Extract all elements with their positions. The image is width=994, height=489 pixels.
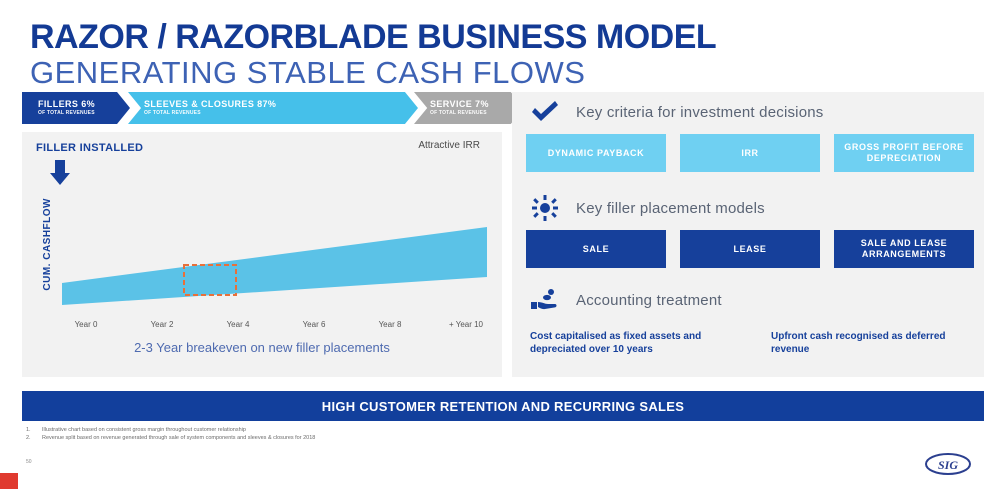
- chart-caption: 2-3 Year breakeven on new filler placeme…: [22, 340, 502, 355]
- placement-model-boxes: SALE LEASE SALE AND LEASE ARRANGEMENTS: [526, 230, 974, 268]
- filler-installed-label: FILLER INSTALLED: [36, 142, 143, 154]
- page-number: 50: [26, 459, 32, 465]
- red-accent-bar: [0, 473, 18, 489]
- cashflow-area-chart: [62, 187, 487, 317]
- chevron-service-sub: OF TOTAL REVENUES: [430, 110, 524, 117]
- model-box-sale[interactable]: SALE: [526, 230, 666, 268]
- section-key-criteria-heading: Key criteria for investment decisions: [576, 104, 824, 121]
- criteria-box-irr[interactable]: IRR: [680, 134, 820, 172]
- hand-coins-icon: [530, 288, 560, 312]
- x-tick-3: Year 6: [284, 320, 344, 329]
- investment-criteria-panel: Key criteria for investment decisions DY…: [512, 92, 984, 377]
- key-criteria-boxes: DYNAMIC PAYBACK IRR GROSS PROFIT BEFORE …: [526, 134, 974, 172]
- chevron-service-label: SERVICE 7%: [430, 99, 524, 110]
- chevron-sleeves-label: SLEEVES & CLOSURES 87%: [144, 99, 418, 110]
- criteria-box-gross-profit[interactable]: GROSS PROFIT BEFORE DEPRECIATION: [834, 134, 974, 172]
- attractive-irr-label: Attractive IRR: [418, 140, 480, 151]
- footnote-2: 2. Revenue split based on revenue genera…: [26, 434, 626, 442]
- sig-logo-text: SIG: [938, 458, 958, 472]
- chevron-sleeves-closures: SLEEVES & CLOSURES 87% OF TOTAL REVENUES: [128, 92, 418, 124]
- footnote-1-number: 1.: [26, 426, 36, 434]
- footnote-1: 1. Illustrative chart based on consisten…: [26, 426, 626, 434]
- accounting-notes: Cost capitalised as fixed assets and dep…: [530, 330, 970, 356]
- footnote-2-number: 2.: [26, 434, 36, 442]
- footer-banner: HIGH CUSTOMER RETENTION AND RECURRING SA…: [22, 391, 984, 421]
- down-arrow-icon: [49, 160, 71, 186]
- chevron-fillers-sub: OF TOTAL REVENUES: [38, 110, 130, 117]
- x-tick-1: Year 2: [132, 320, 192, 329]
- revenue-split-chevrons: FILLERS 6% OF TOTAL REVENUES SLEEVES & C…: [22, 92, 502, 124]
- sig-logo: SIG: [924, 451, 972, 477]
- chevron-fillers: FILLERS 6% OF TOTAL REVENUES: [22, 92, 130, 124]
- chevron-sleeves-sub: OF TOTAL REVENUES: [144, 110, 418, 117]
- gear-icon: [530, 195, 560, 221]
- chart-x-axis-labels: Year 0 Year 2 Year 4 Year 6 Year 8 + Yea…: [56, 320, 496, 329]
- chevron-fillers-label: FILLERS 6%: [38, 99, 130, 110]
- section-placement-models: Key filler placement models: [530, 195, 765, 221]
- model-box-sale-and-lease[interactable]: SALE AND LEASE ARRANGEMENTS: [834, 230, 974, 268]
- x-tick-4: Year 8: [360, 320, 420, 329]
- model-box-lease[interactable]: LEASE: [680, 230, 820, 268]
- section-placement-models-heading: Key filler placement models: [576, 200, 765, 217]
- x-tick-0: Year 0: [56, 320, 116, 329]
- cashflow-chart-panel: FILLER INSTALLED Attractive IRR CUM. CAS…: [22, 132, 502, 377]
- cashflow-band: [62, 227, 487, 305]
- check-icon: [530, 100, 560, 124]
- section-accounting-treatment: Accounting treatment: [530, 288, 722, 312]
- footnote-2-text: Revenue split based on revenue generated…: [42, 434, 315, 442]
- accounting-note-2: Upfront cash recognised as deferred reve…: [771, 330, 970, 356]
- x-tick-5: + Year 10: [436, 320, 496, 329]
- chevron-service: SERVICE 7% OF TOTAL REVENUES: [414, 92, 524, 124]
- slide-root: RAZOR / RAZORBLADE BUSINESS MODEL GENERA…: [0, 0, 994, 489]
- page-subtitle: GENERATING STABLE CASH FLOWS: [30, 55, 585, 91]
- x-tick-2: Year 4: [208, 320, 268, 329]
- section-accounting-heading: Accounting treatment: [576, 292, 722, 309]
- footnotes: 1. Illustrative chart based on consisten…: [26, 426, 626, 442]
- page-title: RAZOR / RAZORBLADE BUSINESS MODEL: [30, 18, 716, 57]
- footnote-1-text: Illustrative chart based on consistent g…: [42, 426, 246, 434]
- criteria-box-dynamic-payback[interactable]: DYNAMIC PAYBACK: [526, 134, 666, 172]
- accounting-note-1: Cost capitalised as fixed assets and dep…: [530, 330, 729, 356]
- chart-y-axis-label: CUM. CASHFLOW: [42, 198, 53, 291]
- section-key-criteria: Key criteria for investment decisions: [530, 100, 824, 124]
